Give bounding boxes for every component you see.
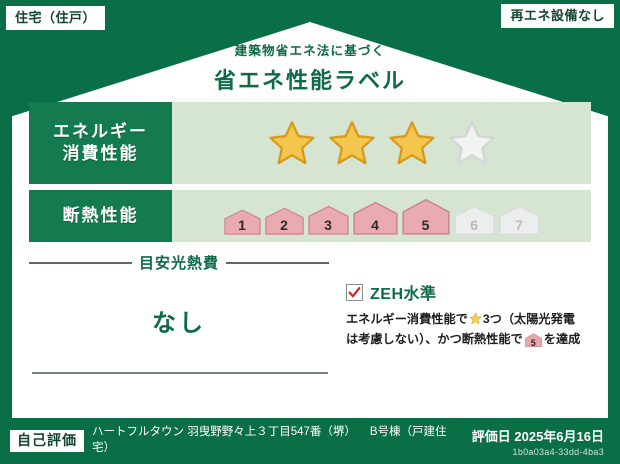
evaluation-date-value: 2025年6月16日 [514, 429, 604, 444]
document-id: 1b0a03a4-33dd-4ba3 [472, 447, 604, 457]
mini-house-num: 5 [531, 338, 536, 348]
zeh-desc-stars: 3つ（太陽光発電 [483, 312, 575, 326]
zeh-box: ZEH水準 エネルギー消費性能で3つ（太陽光発電は考慮しない）、かつ断熱性能で5… [329, 252, 591, 382]
performance-rows: エネルギー 消費性能 断熱性能 1234567 [29, 102, 591, 248]
insulation-level-6: 6 [454, 205, 495, 235]
star-rating [268, 120, 496, 166]
rule-left [29, 262, 132, 264]
rule-right [226, 262, 329, 264]
utility-cost-divider [32, 372, 328, 374]
address-text: ハートフルタウン 羽曳野野々上３丁目547番（堺） [92, 426, 356, 438]
self-evaluation-badge: 自己評価 [10, 430, 84, 452]
insulation-level-number: 3 [324, 218, 332, 232]
utility-cost-value: なし [29, 303, 329, 338]
insulation-level-number: 1 [238, 218, 246, 232]
utility-cost-box: 目安光熱費 なし [29, 252, 329, 382]
insulation-level-number: 2 [280, 218, 288, 232]
insulation-performance-value: 1234567 [172, 190, 591, 242]
evaluation-date-block: 評価日 2025年6月16日 1b0a03a4-33dd-4ba3 [472, 426, 604, 457]
insulation-level-1: 1 [224, 209, 261, 235]
star-filled-icon [268, 120, 316, 166]
insulation-performance-label: 断熱性能 [29, 190, 172, 242]
evaluation-date: 評価日 2025年6月16日 [472, 426, 604, 445]
insulation-level-7: 7 [499, 205, 540, 235]
energy-label-root: 住宅（住戸） 再エネ設備なし 建築物省エネ法に基づく 省エネ性能ラベル エネルギ… [0, 0, 620, 464]
zeh-description: エネルギー消費性能で3つ（太陽光発電は考慮しない）、かつ断熱性能で5を達成 [346, 310, 591, 350]
insulation-level-2: 2 [265, 207, 304, 235]
lower-panel: 目安光熱費 なし ZEH水準 エネルギー消費性能で3つ（太陽光発電は考慮しない）… [29, 252, 591, 382]
energy-label-line2: 消費性能 [63, 143, 139, 165]
label-heading: 建築物省エネ法に基づく 省エネ性能ラベル [0, 40, 620, 95]
zeh-title: ZEH水準 [370, 280, 437, 304]
star-filled-icon [388, 120, 436, 166]
star-filled-icon [328, 120, 376, 166]
star-empty-icon [448, 120, 496, 166]
insulation-level-5: 5 [402, 198, 450, 235]
tag-renewable-equipment: 再エネ設備なし [501, 4, 614, 28]
mini-house-icon: 5 [525, 333, 542, 347]
insulation-level-number: 6 [470, 218, 478, 232]
zeh-desc-part3: を達成 [544, 332, 581, 346]
tag-dwelling-type: 住宅（住戸） [6, 6, 105, 30]
insulation-level-number: 7 [515, 218, 523, 232]
insulation-level-number: 5 [422, 218, 430, 232]
mini-star-icon [469, 312, 482, 325]
insulation-performance-row: 断熱性能 1234567 [29, 190, 591, 242]
zeh-header: ZEH水準 [346, 280, 591, 304]
utility-cost-header: 目安光熱費 [29, 252, 329, 273]
zeh-checkbox[interactable] [346, 284, 363, 301]
zeh-desc-part1: エネルギー消費性能で [346, 312, 468, 326]
check-icon [348, 286, 361, 299]
energy-performance-label: エネルギー 消費性能 [29, 102, 172, 184]
heading-subtitle: 建築物省エネ法に基づく [0, 40, 620, 59]
zeh-desc-part2: は考慮しない）、かつ断熱性能で [346, 332, 523, 346]
page-title: 省エネ性能ラベル [0, 63, 620, 95]
insulation-level-number: 4 [371, 218, 379, 232]
property-address: ハートフルタウン 羽曳野野々上３丁目547番（堺）B号棟（戸建住宅） [92, 425, 452, 456]
energy-performance-value [172, 102, 591, 184]
label-footer: 自己評価 ハートフルタウン 羽曳野野々上３丁目547番（堺）B号棟（戸建住宅） … [0, 418, 620, 464]
evaluation-date-label: 評価日 [472, 429, 511, 444]
insulation-level-scale: 1234567 [224, 198, 540, 235]
utility-cost-title: 目安光熱費 [139, 252, 219, 273]
insulation-level-3: 3 [308, 205, 349, 235]
insulation-level-4: 4 [353, 201, 398, 235]
energy-label-line1: エネルギー [53, 121, 148, 143]
energy-performance-row: エネルギー 消費性能 [29, 102, 591, 184]
